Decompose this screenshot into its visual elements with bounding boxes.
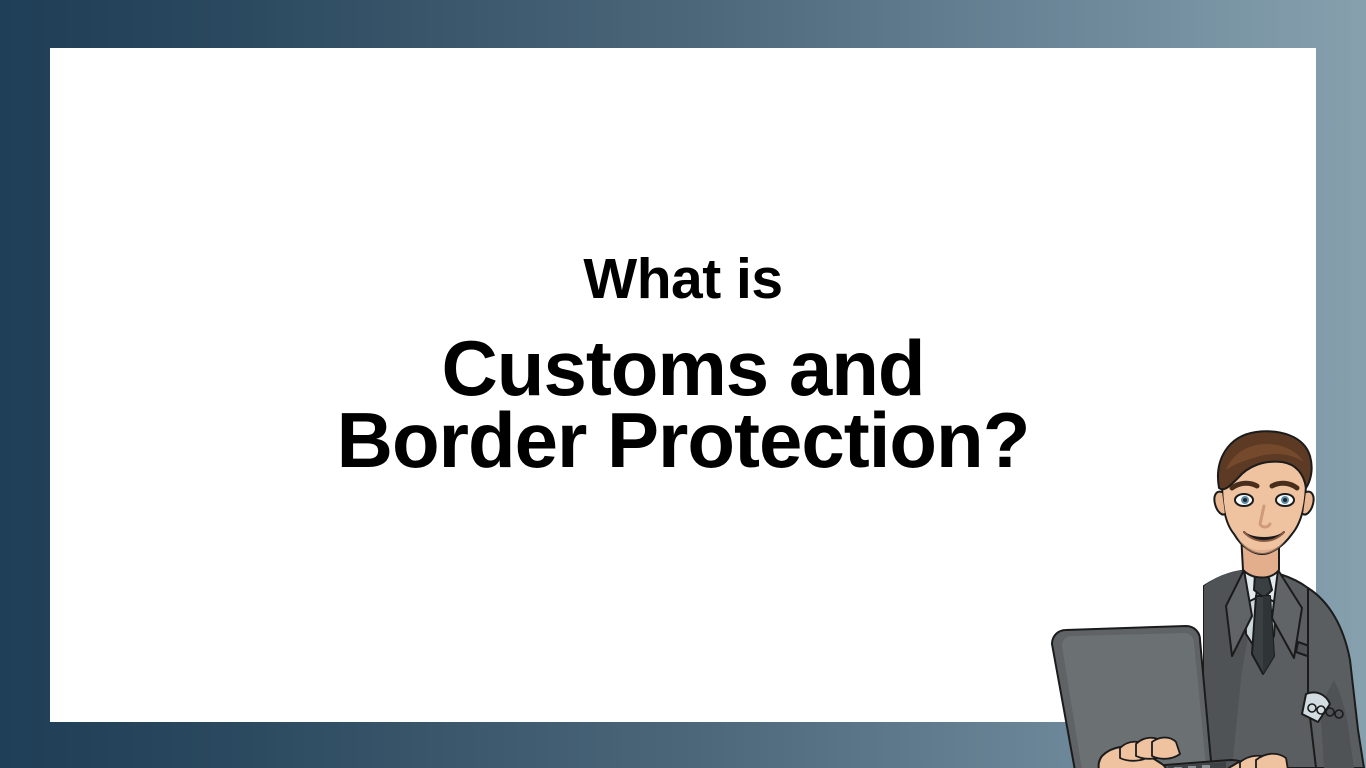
pupil-right — [1283, 498, 1287, 502]
businessman-with-laptop-illustration — [1016, 430, 1366, 768]
presentation-slide: What is Customs and Border Protection? — [0, 0, 1366, 768]
title-line-what-is: What is — [50, 251, 1316, 308]
pupil-left — [1243, 498, 1247, 502]
